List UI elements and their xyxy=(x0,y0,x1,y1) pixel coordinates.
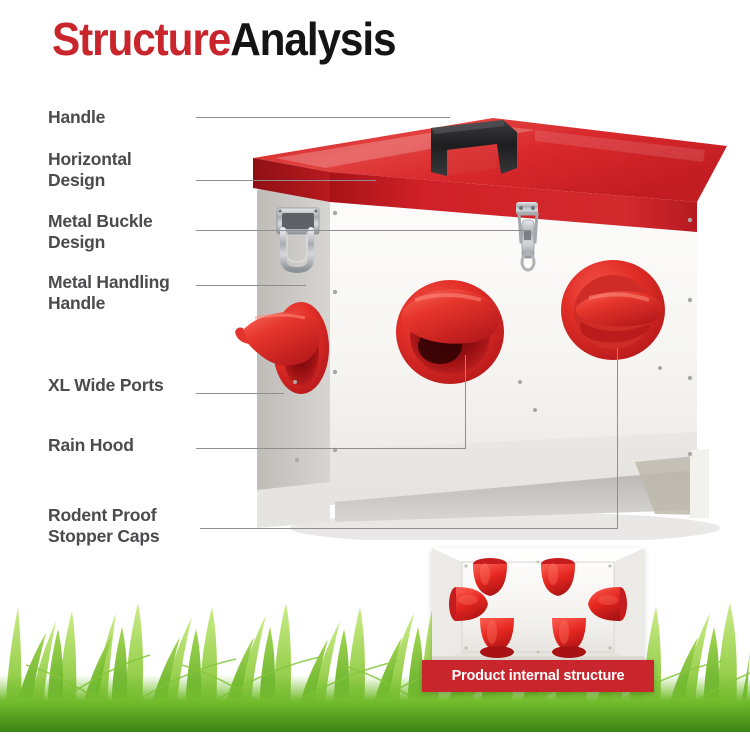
callout-label-xl-wide-ports: XL Wide Ports xyxy=(48,375,164,396)
inset-illustration xyxy=(432,548,644,665)
callout-label-metal-buckle-design: Metal Buckle Design xyxy=(48,211,153,253)
callout-label-rodent-proof-stopper-caps: Rodent Proof Stopper Caps xyxy=(48,505,159,547)
port-right-front xyxy=(561,260,665,360)
stopper-cap xyxy=(552,618,586,658)
callout-label-handle: Handle xyxy=(48,107,105,128)
leader-line-handle xyxy=(196,117,450,118)
box-right-leg xyxy=(690,449,709,518)
stopper-cap xyxy=(480,618,514,658)
leader-line-metal-buckle xyxy=(196,230,531,231)
infographic-canvas: StructureAnalysis xyxy=(0,0,750,750)
leader-line-stopper-caps xyxy=(200,528,618,529)
page-title: StructureAnalysis xyxy=(52,12,395,66)
box-left-leg xyxy=(257,482,330,528)
inset-caption-text: Product internal structure xyxy=(452,668,625,684)
leader-line-xl-wide-ports xyxy=(196,393,284,394)
inset-photo xyxy=(432,548,644,665)
callout-label-rain-hood: Rain Hood xyxy=(48,435,134,456)
product-image xyxy=(235,110,735,540)
port-left-rain-hood xyxy=(243,312,320,366)
callout-label-horizontal-design: Horizontal Design xyxy=(48,149,132,191)
leader-line-stopper-caps-riser xyxy=(617,348,618,529)
inset-caption-banner: Product internal structure xyxy=(422,660,654,692)
lid-carry-handle xyxy=(431,120,517,176)
title-red-word: Structure xyxy=(52,13,230,65)
leader-line-rain-hood xyxy=(196,448,466,449)
leader-line-horizontal-design xyxy=(196,180,376,181)
port-middle-front xyxy=(396,280,504,384)
leader-line-metal-handling-handle xyxy=(196,285,306,286)
title-black-word: Analysis xyxy=(230,13,395,65)
inset-internal-structure: Product internal structure xyxy=(432,548,644,690)
callout-label-metal-handling-handle: Metal Handling Handle xyxy=(48,272,170,314)
product-box-illustration xyxy=(235,110,735,540)
leader-line-rain-hood-riser xyxy=(465,355,466,449)
port-left-side xyxy=(235,302,329,394)
